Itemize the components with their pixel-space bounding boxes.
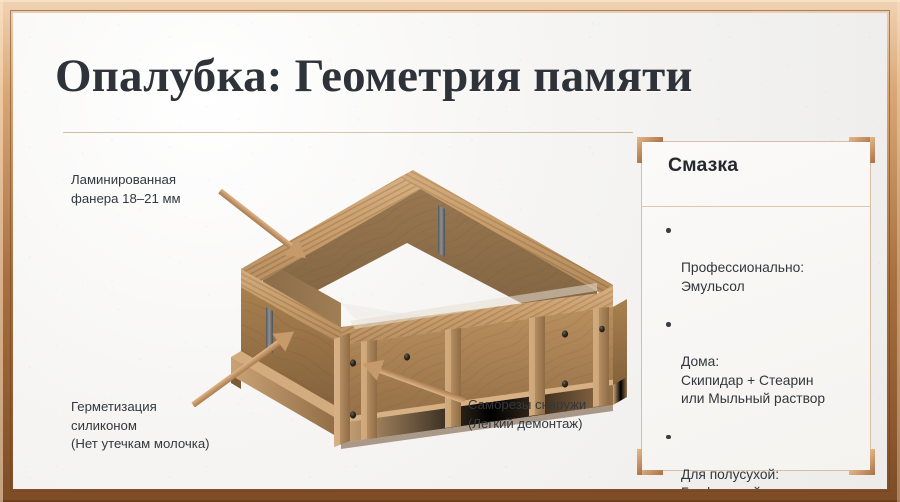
bullet-icon [666,435,671,440]
page-title: Опалубка: Геометрия памяти [55,49,693,103]
card-list: Профессионально: Эмульсол Дома: Скипидар… [664,222,856,489]
card-divider [642,206,870,207]
list-item: Профессионально: Эмульсол [664,222,856,296]
list-item: Для полусухой: Графитовый порошок [664,429,856,490]
list-item-label: Для полусухой: Графитовый порошок [681,467,820,490]
card-title: Смазка [668,154,738,177]
card-corner-top-right [849,137,875,163]
slide-frame: Опалубка: Геометрия памяти [0,0,900,502]
slide-canvas: Опалубка: Геометрия памяти [13,13,887,489]
annotation-plywood: Ламинированная фанера 18–21 мм [71,171,181,208]
card-corner-bottom-left [637,449,663,475]
list-item: Дома: Скипидар + Стеарин или Мыльный рас… [664,316,856,409]
bullet-icon [666,228,671,233]
annotation-screws: Саморезы снаружи (Легкий демонтаж) [468,396,586,433]
tie-slot-back [438,205,445,257]
bullet-icon [666,322,671,327]
lubricant-card: Смазка Профессионально: Эмульсол Дома: С… [641,141,871,471]
list-item-label: Дома: Скипидар + Стеарин или Мыльный рас… [681,354,825,406]
list-item-label: Профессионально: Эмульсол [681,260,804,294]
annotation-sealant: Герметизация силиконом (Нет утечкам моло… [71,398,210,454]
card-corner-top-left [637,137,663,163]
